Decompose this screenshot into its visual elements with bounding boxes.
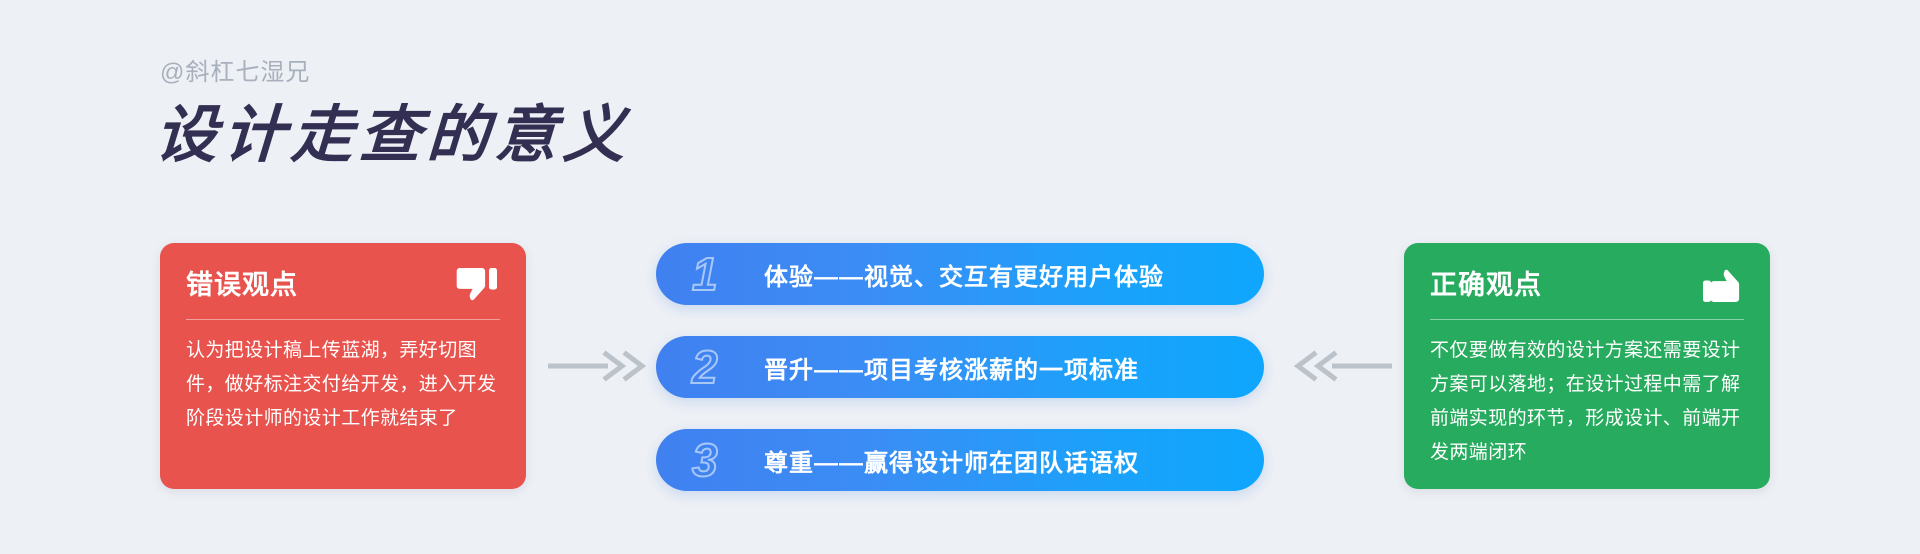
pill-label-3: 尊重——赢得设计师在团队话语权 [764,443,1139,478]
arrow-left-double-icon [1282,349,1394,383]
watermark: @斜杠七湿兄 [160,52,310,87]
thumbs-up-icon [1700,265,1744,305]
right-card-title: 正确观点 [1430,268,1542,302]
page-title: 设计走查的意义 [153,100,633,172]
wrong-card-header: 错误观点 [186,265,500,305]
slide-canvas: @斜杠七湿兄 设计走查的意义 错误观点 认为把设计稿上传蓝湖，弄好切图件，做好标… [0,0,1920,554]
wrong-card-divider [186,319,500,320]
pill-number-2: 2 [692,344,750,390]
right-viewpoint-card: 正确观点 不仅要做有效的设计方案还需要设计方案可以落地；在设计过程中需了解前端实… [1404,243,1770,489]
wrong-viewpoint-card: 错误观点 认为把设计稿上传蓝湖，弄好切图件，做好标注交付给开发，进入开发阶段设计… [160,243,526,489]
benefit-pill-3[interactable]: 3 尊重——赢得设计师在团队话语权 [656,429,1264,491]
arrow-right-double-icon [546,349,658,383]
pill-number-3: 3 [692,437,750,483]
pill-number-1: 1 [692,251,750,297]
pill-label-2: 晋升——项目考核涨薪的一项标准 [764,350,1139,385]
right-card-body: 不仅要做有效的设计方案还需要设计方案可以落地；在设计过程中需了解前端实现的环节，… [1430,334,1744,470]
benefit-pill-1[interactable]: 1 体验——视觉、交互有更好用户体验 [656,243,1264,305]
pill-label-1: 体验——视觉、交互有更好用户体验 [764,257,1164,292]
right-card-header: 正确观点 [1430,265,1744,305]
benefit-pill-2[interactable]: 2 晋升——项目考核涨薪的一项标准 [656,336,1264,398]
wrong-card-title: 错误观点 [186,268,298,302]
thumbs-down-icon [456,265,500,305]
right-card-divider [1430,319,1744,320]
wrong-card-body: 认为把设计稿上传蓝湖，弄好切图件，做好标注交付给开发，进入开发阶段设计师的设计工… [186,334,500,436]
